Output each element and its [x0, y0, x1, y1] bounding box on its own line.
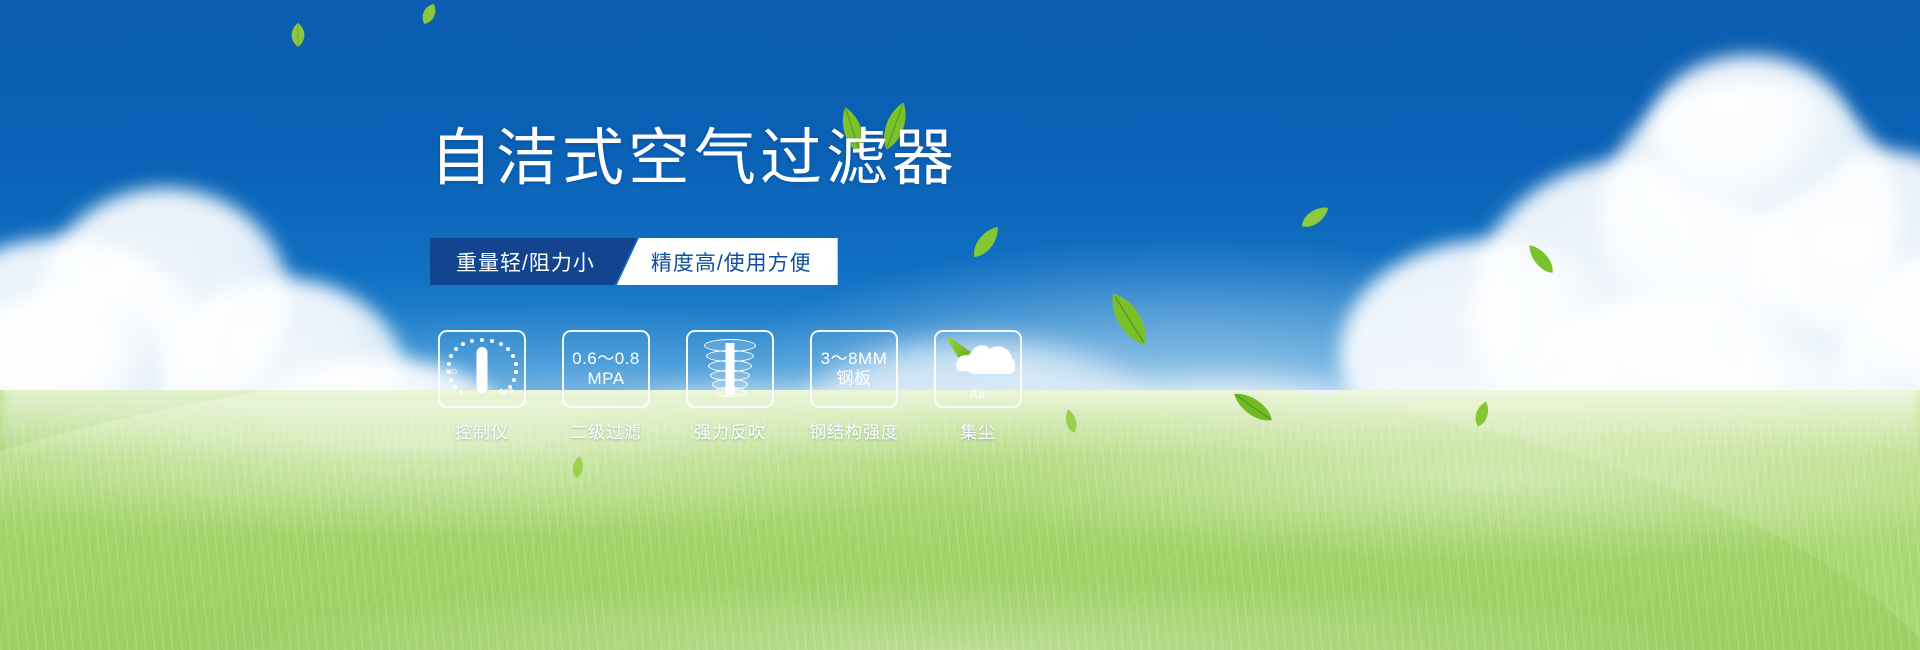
feature-caption: 二级过滤 — [570, 418, 642, 443]
feature-item-backblow: 强力反吹 — [686, 330, 774, 443]
feature-icon-box — [686, 330, 774, 408]
air-label: Air — [941, 387, 1015, 401]
pressure-unit: MPA — [572, 369, 640, 389]
page-title: 自洁式空气过滤器 — [430, 128, 958, 190]
hero-banner: 自洁式空气过滤器 重量轻/阻力小 精度高/使用方便 — [0, 0, 1920, 650]
feature-icon-box: 3～8MM 钢板 — [810, 330, 898, 408]
filter-stack-icon — [704, 339, 756, 399]
feature-item-dust: Air 集尘 — [934, 330, 1022, 443]
feature-icon-box: NO OFF — [438, 330, 526, 408]
air-cloud-icon: Air — [941, 338, 1015, 400]
gauge-icon: NO OFF — [446, 338, 518, 400]
feature-caption: 强力反吹 — [694, 418, 766, 443]
pressure-icon: 0.6～0.8 MPA — [572, 349, 640, 388]
gauge-label-no: NO — [446, 369, 458, 376]
feature-item-controller: NO OFF 控制仪 — [438, 330, 526, 443]
steel-material: 钢板 — [821, 369, 888, 389]
badge-precision: 精度高/使用方便 — [617, 238, 838, 285]
pressure-value: 0.6～0.8 — [572, 349, 640, 369]
feature-item-steel: 3～8MM 钢板 钢结构强度 — [810, 330, 898, 443]
feature-caption: 控制仪 — [455, 418, 509, 443]
feature-item-pressure: 0.6～0.8 MPA 二级过滤 — [562, 330, 650, 443]
badge-group: 重量轻/阻力小 精度高/使用方便 — [430, 238, 838, 285]
steel-plate-icon: 3～8MM 钢板 — [821, 349, 888, 388]
feature-caption: 钢结构强度 — [809, 418, 899, 443]
gauge-label-off: OFF — [499, 389, 515, 396]
feature-list: NO OFF 控制仪 0.6～0.8 MPA 二级过滤 — [438, 330, 1022, 443]
banner-content: 自洁式空气过滤器 重量轻/阻力小 精度高/使用方便 — [0, 0, 1920, 650]
feature-caption: 集尘 — [960, 418, 996, 443]
steel-thickness: 3～8MM — [821, 349, 888, 369]
feature-icon-box: Air — [934, 330, 1022, 408]
feature-icon-box: 0.6～0.8 MPA — [562, 330, 650, 408]
badge-lightweight: 重量轻/阻力小 — [430, 238, 637, 285]
